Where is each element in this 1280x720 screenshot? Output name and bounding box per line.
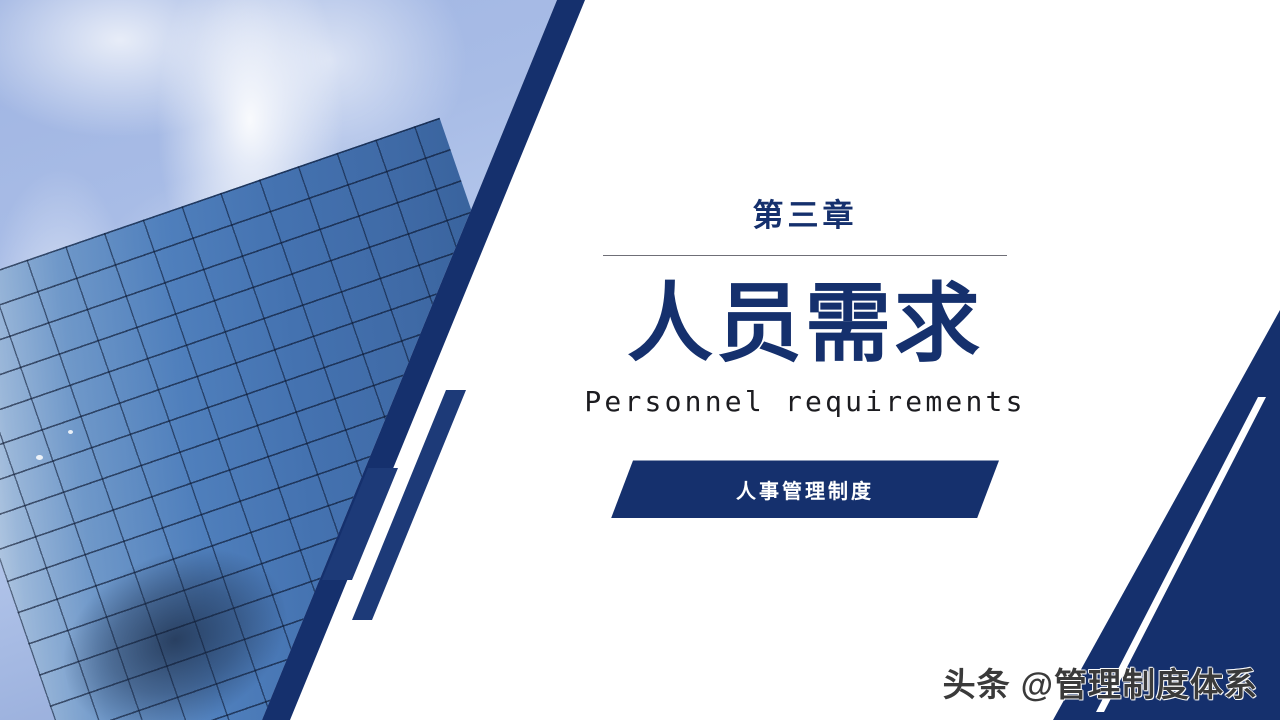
- chapter-label: 第三章: [753, 200, 858, 231]
- window-glint-2: [68, 430, 73, 434]
- presentation-slide: 第三章 人员需求 Personnel requirements 人事管理制度 头…: [0, 0, 1280, 720]
- hero-photo: [0, 0, 600, 720]
- banner-label: 人事管理制度: [611, 460, 999, 518]
- watermark: 头条 @管理制度体系: [943, 658, 1258, 706]
- page-title: 人员需求: [627, 280, 983, 369]
- slide-content: 第三章 人员需求 Personnel requirements 人事管理制度: [600, 0, 1010, 720]
- window-glint-1: [36, 455, 43, 460]
- title-divider: [603, 255, 1007, 256]
- subtitle-english: Personnel requirements: [584, 385, 1025, 418]
- section-banner: 人事管理制度: [611, 460, 999, 518]
